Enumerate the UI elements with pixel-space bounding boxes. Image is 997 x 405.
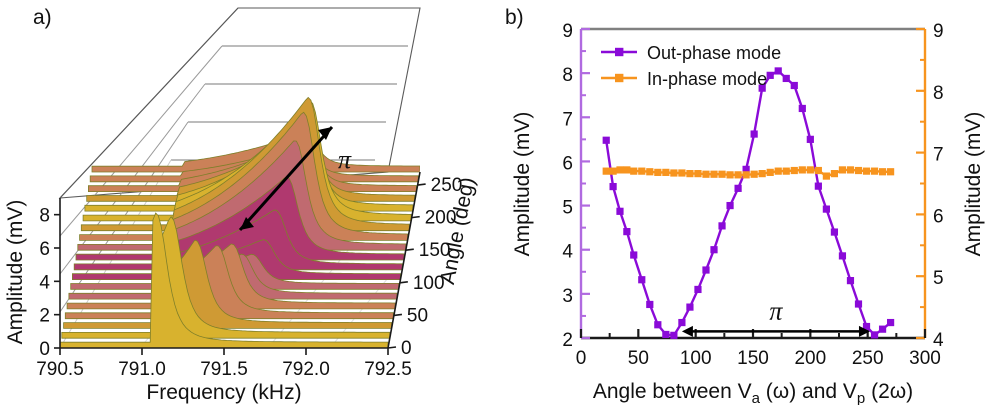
data-point-marker — [623, 228, 630, 235]
right-tick-label: 7 — [933, 145, 944, 166]
xlabel-sub-p: p — [857, 390, 865, 405]
data-point-marker — [603, 137, 610, 144]
data-point-marker — [678, 169, 685, 176]
data-point-marker — [686, 304, 693, 311]
data-point-marker — [751, 171, 758, 178]
panel-b-right-axis-title: Amplitude (mV) — [962, 112, 985, 257]
data-point-marker — [623, 166, 630, 173]
data-point-marker — [887, 168, 894, 175]
data-point-marker — [694, 170, 701, 177]
data-point-marker — [610, 183, 617, 190]
data-point-marker — [603, 168, 610, 175]
data-point-marker — [879, 168, 886, 175]
data-point-marker — [630, 168, 637, 175]
data-point-marker — [654, 321, 661, 328]
panel-b-label: b) — [505, 6, 524, 30]
panel-a-x-axis: 790.5791.0791.5792.0792.5 — [36, 348, 412, 380]
data-point-marker — [831, 170, 838, 177]
data-point-marker — [702, 266, 709, 273]
z-tick — [406, 249, 414, 250]
data-point-marker — [775, 67, 782, 74]
panel-a-label: a) — [33, 6, 52, 30]
data-point-marker — [718, 222, 725, 229]
data-point-marker — [799, 166, 806, 173]
data-point-marker — [775, 168, 782, 175]
figure-container: a) — [0, 0, 997, 405]
data-point-marker — [855, 167, 862, 174]
legend-item[interactable]: In-phase mode — [601, 69, 767, 89]
data-point-marker — [726, 171, 733, 178]
legend-label: In-phase mode — [647, 69, 767, 89]
pi-arrowhead-left — [682, 326, 693, 337]
panel-b-data-series — [603, 67, 895, 339]
data-point-marker — [823, 172, 830, 179]
data-point-marker — [710, 246, 717, 253]
data-point-marker — [823, 206, 830, 213]
data-point-marker — [710, 171, 717, 178]
x-tick-label: 250 — [852, 348, 884, 369]
data-point-marker — [783, 75, 790, 82]
y-tick-label: 6 — [39, 239, 50, 260]
panel-a-x-axis-title: Frequency (kHz) — [146, 381, 301, 404]
x-tick-label: 791.5 — [200, 359, 248, 380]
data-point-marker — [638, 168, 645, 175]
panel-b-svg: 23456789 456789 050100150200250300 π Out… — [497, 0, 997, 405]
data-point-marker — [839, 252, 846, 259]
panel-b-pi-arrow — [682, 326, 870, 337]
data-point-marker — [670, 169, 677, 176]
left-tick-label: 7 — [562, 109, 573, 130]
left-tick-label: 5 — [562, 198, 573, 219]
data-point-marker — [718, 171, 725, 178]
data-point-marker — [646, 301, 653, 308]
panel-b-right-axis-ticks: 456789 — [916, 21, 944, 351]
z-tick-label: 0 — [401, 338, 412, 359]
left-tick-label: 4 — [562, 242, 573, 263]
x-tick-label: 300 — [909, 348, 941, 369]
data-point-marker — [759, 170, 766, 177]
right-tick-label: 9 — [933, 21, 944, 42]
data-point-marker — [791, 167, 798, 174]
data-point-marker — [871, 331, 878, 338]
x-tick-label: 792.5 — [364, 359, 412, 380]
x-tick-label: 150 — [737, 348, 769, 369]
legend-marker — [615, 74, 623, 82]
series-out-phase-mode — [603, 67, 895, 339]
left-tick-label: 9 — [562, 21, 573, 42]
data-point-marker — [767, 169, 774, 176]
data-point-marker — [847, 277, 854, 284]
data-point-marker — [799, 105, 806, 112]
legend-label: Out-phase mode — [647, 43, 781, 63]
data-point-marker — [807, 136, 814, 143]
data-point-marker — [726, 202, 733, 209]
panel-b-x-axis-ticks: 050100150200250300 — [576, 329, 941, 369]
z-tick — [400, 282, 408, 283]
panel-b-legend: Out-phase modeIn-phase mode — [601, 43, 781, 89]
data-point-marker — [662, 331, 669, 338]
data-point-marker — [855, 300, 862, 307]
x-tick-label: 100 — [680, 348, 712, 369]
data-point-marker — [831, 228, 838, 235]
data-point-marker — [610, 168, 617, 175]
data-point-marker — [791, 82, 798, 89]
panel-a-pi-label: π — [338, 145, 352, 174]
z-tick-label: 50 — [407, 305, 428, 326]
data-point-marker — [616, 166, 623, 173]
x-tick-label: 792.0 — [282, 359, 330, 380]
data-point-marker — [767, 72, 774, 79]
data-point-marker — [807, 166, 814, 173]
z-tick — [394, 314, 402, 315]
data-point-marker — [815, 167, 822, 174]
z-tick — [388, 347, 396, 348]
data-point-marker — [839, 166, 846, 173]
xlabel-part-3: (2ω) — [865, 380, 913, 403]
legend-marker — [615, 48, 623, 56]
panel-a-y-axis-title: Amplitude (mV) — [4, 200, 27, 345]
panel-b-x-axis-title: Angle between Va (ω) and Vp (2ω) — [593, 380, 913, 405]
data-point-marker — [702, 171, 709, 178]
data-point-marker — [879, 326, 886, 333]
data-point-marker — [662, 169, 669, 176]
data-point-marker — [783, 168, 790, 175]
data-point-marker — [743, 171, 750, 178]
right-tick-label: 6 — [933, 206, 944, 227]
data-point-marker — [887, 319, 894, 326]
z-tick — [412, 217, 420, 218]
left-tick-label: 8 — [562, 65, 573, 86]
right-tick-label: 8 — [933, 83, 944, 104]
data-point-marker — [646, 168, 653, 175]
x-tick-label: 791.0 — [118, 359, 166, 380]
data-point-marker — [815, 183, 822, 190]
right-tick-label: 5 — [933, 268, 944, 289]
data-point-marker — [871, 168, 878, 175]
y-tick-label: 0 — [39, 339, 50, 360]
data-point-marker — [686, 170, 693, 177]
xlabel-part-2: (ω) and V — [760, 380, 857, 403]
data-point-marker — [638, 276, 645, 283]
panel-a-svg: π 02468 Amplitude (mV) 790.5791.0791.579… — [0, 0, 500, 405]
panel-a-y-axis: 02468 — [39, 198, 60, 360]
x-tick-label: 790.5 — [36, 359, 84, 380]
data-point-marker — [616, 208, 623, 215]
panel-b-left-axis-title: Amplitude (mV) — [511, 112, 534, 257]
x-tick-label: 50 — [628, 348, 649, 369]
data-point-marker — [670, 332, 677, 339]
data-point-marker — [654, 169, 661, 176]
z-tick — [418, 184, 426, 185]
panel-b-line-plot: b) 23456789 456789 050100150200250300 π — [497, 0, 997, 405]
left-tick-label: 2 — [562, 330, 573, 351]
y-tick-label: 8 — [39, 206, 50, 227]
data-point-marker — [751, 130, 758, 137]
data-point-marker — [734, 185, 741, 192]
left-tick-label: 6 — [562, 153, 573, 174]
xlabel-part-1: Angle between V — [593, 380, 752, 403]
data-point-marker — [734, 171, 741, 178]
y-tick-label: 4 — [39, 272, 50, 293]
left-tick-label: 3 — [562, 286, 573, 307]
x-tick-label: 0 — [576, 348, 587, 369]
y-tick-label: 2 — [39, 306, 50, 327]
data-point-marker — [678, 319, 685, 326]
legend-item[interactable]: Out-phase mode — [601, 43, 781, 63]
data-point-marker — [694, 286, 701, 293]
panel-b-left-axis-ticks: 23456789 — [562, 21, 590, 351]
series-line — [606, 71, 890, 336]
data-point-marker — [630, 251, 637, 258]
data-point-marker — [863, 168, 870, 175]
panel-b-pi-label: π — [769, 296, 783, 325]
data-point-marker — [847, 166, 854, 173]
x-tick-label: 200 — [794, 348, 826, 369]
panel-a-waterfall-plot: a) — [0, 0, 500, 405]
